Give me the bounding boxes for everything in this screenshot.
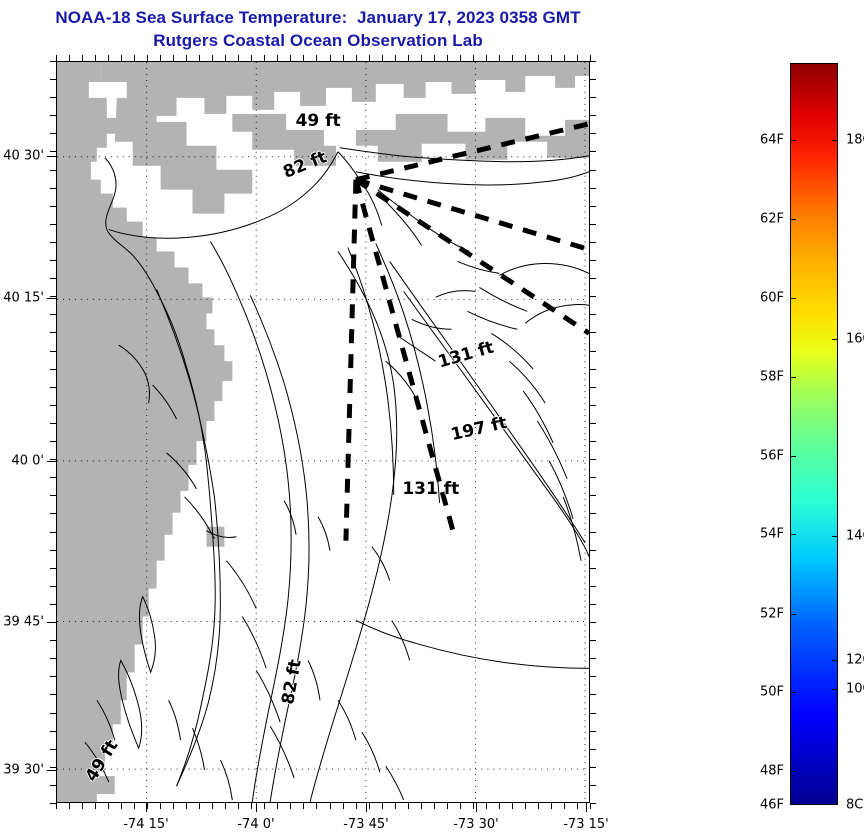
colorbar-tick-left (790, 219, 796, 220)
x-minor-tick-top (69, 55, 70, 61)
x-minor-tick-bottom (173, 803, 174, 809)
y-minor-tick-right (590, 115, 596, 116)
x-minor-tick-bottom (499, 803, 500, 809)
x-minor-tick-bottom (421, 803, 422, 809)
y-minor-tick-right (590, 459, 596, 460)
x-minor-tick-bottom (538, 803, 539, 809)
y-axis-tick-label: 39 30' (0, 763, 44, 778)
colorbar-tick-left (790, 140, 796, 141)
x-minor-tick-top (421, 55, 422, 61)
colorbar-celsius-label: 12C (846, 652, 864, 667)
y-minor-tick-right (590, 79, 596, 80)
y-minor-tick-left (50, 586, 56, 587)
x-axis-tick-label: -73 30' (453, 817, 498, 832)
x-minor-tick-bottom (486, 803, 487, 809)
x-minor-tick-top (134, 55, 135, 61)
y-minor-tick-left (50, 332, 56, 333)
y-minor-tick-right (590, 713, 596, 714)
x-minor-tick-top (356, 55, 357, 61)
y-minor-tick-left (50, 188, 56, 189)
x-axis-tick-label: -74 0' (237, 817, 274, 832)
y-minor-tick-right (590, 622, 596, 623)
y-minor-tick-right (590, 423, 596, 424)
y-minor-tick-right (590, 133, 596, 134)
y-minor-tick-right (590, 405, 596, 406)
x-minor-tick-bottom (382, 803, 383, 809)
x-minor-tick-top (82, 55, 83, 61)
x-minor-tick-bottom (121, 803, 122, 809)
x-major-tick (146, 803, 147, 812)
y-minor-tick-right (590, 676, 596, 677)
x-minor-tick-bottom (564, 803, 565, 809)
depth-contour-label: 131 ft (402, 479, 459, 499)
x-minor-tick-top (277, 55, 278, 61)
x-major-tick (586, 803, 587, 812)
x-minor-tick-top (330, 55, 331, 61)
y-axis-tick-label: 40 30' (0, 148, 44, 163)
colorbar-tick-left (790, 377, 796, 378)
y-minor-tick-left (50, 405, 56, 406)
y-minor-tick-right (590, 694, 596, 695)
y-minor-tick-right (590, 170, 596, 171)
colorbar-tick-right (832, 660, 838, 661)
x-minor-tick-top (290, 55, 291, 61)
y-minor-tick-right (590, 658, 596, 659)
x-minor-tick-bottom (108, 803, 109, 809)
x-minor-tick-top (473, 55, 474, 61)
x-minor-tick-top (460, 55, 461, 61)
y-minor-tick-right (590, 731, 596, 732)
x-minor-tick-bottom (369, 803, 370, 809)
y-minor-tick-left (50, 731, 56, 732)
colorbar-group[interactable]: 64F62F60F58F56F54F52F50F48F46F18C16C14C1… (790, 63, 838, 805)
x-minor-tick-bottom (186, 803, 187, 809)
x-minor-tick-bottom (303, 803, 304, 809)
colorbar-fahrenheit-label: 54F (746, 527, 784, 542)
x-major-tick (476, 803, 477, 812)
colorbar-celsius-label: 10C (846, 682, 864, 697)
y-minor-tick-right (590, 224, 596, 225)
x-minor-tick-bottom (356, 803, 357, 809)
colorbar-fahrenheit-label: 52F (746, 606, 784, 621)
x-minor-tick-bottom (408, 803, 409, 809)
x-minor-tick-top (95, 55, 96, 61)
y-axis-tick-label: 40 0' (0, 453, 44, 468)
colorbar-celsius-label: 18C (846, 133, 864, 148)
y-major-tick (47, 461, 56, 462)
x-major-tick (256, 803, 257, 812)
colorbar-tick-left (790, 771, 796, 772)
x-minor-tick-top (212, 55, 213, 61)
colorbar-fahrenheit-label: 58F (746, 369, 784, 384)
y-axis-tick-label: 39 45' (0, 614, 44, 629)
y-minor-tick-left (50, 803, 56, 804)
x-minor-tick-top (160, 55, 161, 61)
temperature-colorbar[interactable] (790, 63, 838, 805)
colorbar-celsius-label: 8C (846, 798, 863, 813)
x-minor-tick-top (108, 55, 109, 61)
x-minor-tick-bottom (147, 803, 148, 809)
colorbar-celsius-label: 16C (846, 332, 864, 347)
map-plot-area[interactable]: 49 ft82 ft131 ft197 ft131 ft82 ft49 ft (56, 61, 590, 803)
x-minor-tick-bottom (134, 803, 135, 809)
x-minor-tick-bottom (551, 803, 552, 809)
y-minor-tick-left (50, 278, 56, 279)
y-minor-tick-left (50, 133, 56, 134)
y-minor-tick-right (590, 550, 596, 551)
x-minor-tick-bottom (330, 803, 331, 809)
x-minor-tick-bottom (343, 803, 344, 809)
x-minor-tick-bottom (290, 803, 291, 809)
y-minor-tick-right (590, 767, 596, 768)
y-minor-tick-right (590, 314, 596, 315)
colorbar-fahrenheit-label: 46F (746, 798, 784, 813)
x-minor-tick-top (577, 55, 578, 61)
y-minor-tick-left (50, 387, 56, 388)
y-minor-tick-right (590, 640, 596, 641)
x-minor-tick-bottom (395, 803, 396, 809)
y-minor-tick-left (50, 568, 56, 569)
colorbar-tick-left (790, 456, 796, 457)
y-minor-tick-left (50, 351, 56, 352)
y-minor-tick-right (590, 532, 596, 533)
x-minor-tick-bottom (69, 803, 70, 809)
x-minor-tick-top (499, 55, 500, 61)
y-minor-tick-left (50, 61, 56, 62)
x-minor-tick-bottom (212, 803, 213, 809)
title-line-1: NOAA-18 Sea Surface Temperature: January… (0, 6, 636, 29)
x-minor-tick-top (238, 55, 239, 61)
y-minor-tick-left (50, 459, 56, 460)
colorbar-fahrenheit-label: 62F (746, 212, 784, 227)
x-minor-tick-top (121, 55, 122, 61)
x-minor-tick-bottom (277, 803, 278, 809)
y-minor-tick-right (590, 61, 596, 62)
x-minor-tick-top (512, 55, 513, 61)
colorbar-tick-left (790, 298, 796, 299)
y-minor-tick-right (590, 604, 596, 605)
x-minor-tick-bottom (95, 803, 96, 809)
y-minor-tick-right (590, 188, 596, 189)
x-minor-tick-bottom (264, 803, 265, 809)
y-major-tick (47, 770, 56, 771)
y-minor-tick-left (50, 423, 56, 424)
y-minor-tick-left (50, 314, 56, 315)
x-minor-tick-top (486, 55, 487, 61)
x-axis-tick-label: -73 45' (343, 817, 388, 832)
y-minor-tick-left (50, 604, 56, 605)
y-major-tick (47, 298, 56, 299)
y-minor-tick-right (590, 749, 596, 750)
x-minor-tick-top (369, 55, 370, 61)
y-minor-tick-left (50, 495, 56, 496)
x-minor-tick-top (551, 55, 552, 61)
y-minor-tick-left (50, 79, 56, 80)
y-minor-tick-left (50, 513, 56, 514)
y-minor-tick-left (50, 532, 56, 533)
y-minor-tick-left (50, 477, 56, 478)
y-minor-tick-left (50, 640, 56, 641)
y-minor-tick-left (50, 242, 56, 243)
y-minor-tick-right (590, 586, 596, 587)
y-minor-tick-right (590, 260, 596, 261)
x-minor-tick-bottom (525, 803, 526, 809)
y-minor-tick-left (50, 713, 56, 714)
x-minor-tick-bottom (434, 803, 435, 809)
colorbar-fahrenheit-label: 50F (746, 685, 784, 700)
x-minor-tick-top (225, 55, 226, 61)
x-minor-tick-top (343, 55, 344, 61)
x-minor-tick-top (147, 55, 148, 61)
chart-title: NOAA-18 Sea Surface Temperature: January… (0, 6, 636, 52)
y-minor-tick-right (590, 278, 596, 279)
x-minor-tick-top (316, 55, 317, 61)
x-minor-tick-top (447, 55, 448, 61)
x-minor-tick-bottom (199, 803, 200, 809)
colorbar-tick-right (832, 339, 838, 340)
x-minor-tick-bottom (82, 803, 83, 809)
x-minor-tick-top (408, 55, 409, 61)
y-minor-tick-left (50, 170, 56, 171)
y-minor-tick-right (590, 387, 596, 388)
colorbar-fahrenheit-label: 60F (746, 291, 784, 306)
x-minor-tick-top (395, 55, 396, 61)
y-axis-tick-label: 40 15' (0, 291, 44, 306)
x-minor-tick-top (56, 55, 57, 61)
y-minor-tick-left (50, 767, 56, 768)
y-minor-tick-left (50, 260, 56, 261)
y-minor-tick-left (50, 441, 56, 442)
y-minor-tick-left (50, 115, 56, 116)
x-minor-tick-top (564, 55, 565, 61)
y-minor-tick-left (50, 151, 56, 152)
x-minor-tick-bottom (447, 803, 448, 809)
x-minor-tick-bottom (160, 803, 161, 809)
y-minor-tick-right (590, 513, 596, 514)
x-axis-tick-label: -74 15' (123, 817, 168, 832)
y-minor-tick-right (590, 441, 596, 442)
colorbar-fahrenheit-label: 48F (746, 763, 784, 778)
x-minor-tick-bottom (251, 803, 252, 809)
y-minor-tick-left (50, 550, 56, 551)
y-minor-tick-right (590, 151, 596, 152)
y-minor-tick-right (590, 97, 596, 98)
y-minor-tick-right (590, 495, 596, 496)
x-minor-tick-bottom (225, 803, 226, 809)
x-minor-tick-bottom (238, 803, 239, 809)
y-minor-tick-right (590, 351, 596, 352)
x-axis-tick-label: -73 15' (563, 817, 608, 832)
x-minor-tick-top (382, 55, 383, 61)
x-minor-tick-top (525, 55, 526, 61)
x-minor-tick-bottom (512, 803, 513, 809)
colorbar-celsius-label: 14C (846, 529, 864, 544)
y-minor-tick-right (590, 296, 596, 297)
colorbar-tick-right (832, 689, 838, 690)
x-minor-tick-top (186, 55, 187, 61)
y-major-tick (47, 156, 56, 157)
y-major-tick (47, 622, 56, 623)
y-minor-tick-left (50, 785, 56, 786)
x-minor-tick-bottom (316, 803, 317, 809)
x-minor-tick-bottom (473, 803, 474, 809)
y-minor-tick-right (590, 568, 596, 569)
y-minor-tick-right (590, 332, 596, 333)
y-minor-tick-left (50, 694, 56, 695)
x-major-tick (366, 803, 367, 812)
y-minor-tick-right (590, 785, 596, 786)
colorbar-tick-left (790, 692, 796, 693)
y-minor-tick-right (590, 803, 596, 804)
x-minor-tick-top (303, 55, 304, 61)
x-minor-tick-top (264, 55, 265, 61)
y-minor-tick-left (50, 206, 56, 207)
colorbar-tick-left (790, 614, 796, 615)
colorbar-fahrenheit-label: 56F (746, 448, 784, 463)
colorbar-tick-right (832, 140, 838, 141)
y-minor-tick-left (50, 296, 56, 297)
title-line-2: Rutgers Coastal Ocean Observation Lab (0, 29, 636, 52)
x-minor-tick-top (173, 55, 174, 61)
y-minor-tick-left (50, 224, 56, 225)
depth-contour-label: 49 ft (296, 111, 341, 131)
colorbar-tick-left (790, 534, 796, 535)
x-minor-tick-bottom (577, 803, 578, 809)
y-minor-tick-right (590, 477, 596, 478)
y-minor-tick-left (50, 658, 56, 659)
y-minor-tick-left (50, 749, 56, 750)
x-minor-tick-bottom (56, 803, 57, 809)
y-minor-tick-right (590, 369, 596, 370)
x-minor-tick-top (199, 55, 200, 61)
colorbar-tick-right (832, 536, 838, 537)
x-minor-tick-top (434, 55, 435, 61)
colorbar-fahrenheit-label: 64F (746, 133, 784, 148)
y-minor-tick-left (50, 97, 56, 98)
x-minor-tick-top (251, 55, 252, 61)
y-minor-tick-right (590, 206, 596, 207)
y-minor-tick-left (50, 676, 56, 677)
x-minor-tick-top (538, 55, 539, 61)
y-minor-tick-left (50, 369, 56, 370)
x-minor-tick-bottom (460, 803, 461, 809)
y-minor-tick-right (590, 242, 596, 243)
